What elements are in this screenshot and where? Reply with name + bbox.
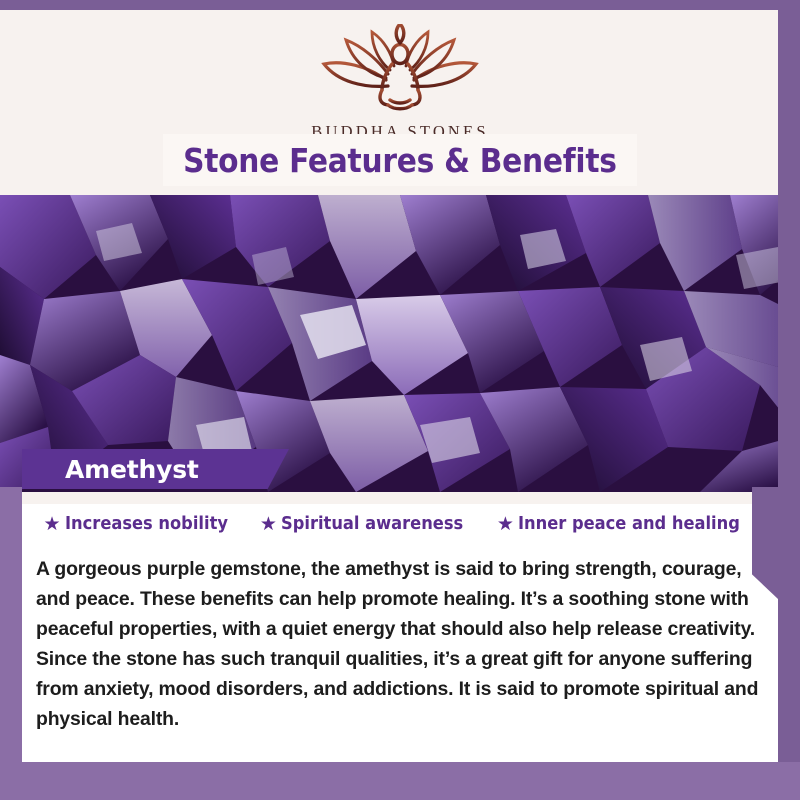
content-panel: ★ Increases nobility ★ Spiritual awarene… (22, 492, 778, 762)
stone-description: A gorgeous purple gemstone, the amethyst… (36, 554, 766, 734)
benefit-item: ★ Increases nobility (44, 514, 240, 534)
content-top-tint (22, 492, 778, 504)
benefit-label: Spiritual awareness (281, 514, 463, 534)
product-infographic: BUDDHA STONES (0, 0, 800, 800)
star-icon: ★ (260, 515, 277, 534)
lotus-meditation-logo-icon (316, 24, 484, 120)
benefit-label: Inner peace and healing (518, 514, 740, 534)
benefit-item: ★ Inner peace and healing (497, 514, 757, 534)
brand-logo: BUDDHA STONES (0, 24, 800, 142)
benefit-label: Increases nobility (65, 514, 228, 534)
frame-right-border (778, 0, 800, 800)
frame-bottom-border (0, 762, 800, 800)
star-icon: ★ (497, 515, 514, 534)
frame-top-border (0, 0, 800, 10)
star-icon: ★ (44, 515, 61, 534)
amethyst-crystal-cluster-photo (0, 195, 800, 492)
page-title-text: Stone Features & Benefits (183, 141, 617, 180)
page-title: Stone Features & Benefits (163, 134, 637, 186)
stone-name-banner: Amethyst (22, 449, 289, 489)
benefit-item: ★ Spiritual awareness (260, 514, 477, 534)
benefits-list: ★ Increases nobility ★ Spiritual awarene… (22, 514, 778, 534)
frame-left-border (0, 487, 22, 800)
stone-name-text: Amethyst (65, 455, 199, 484)
